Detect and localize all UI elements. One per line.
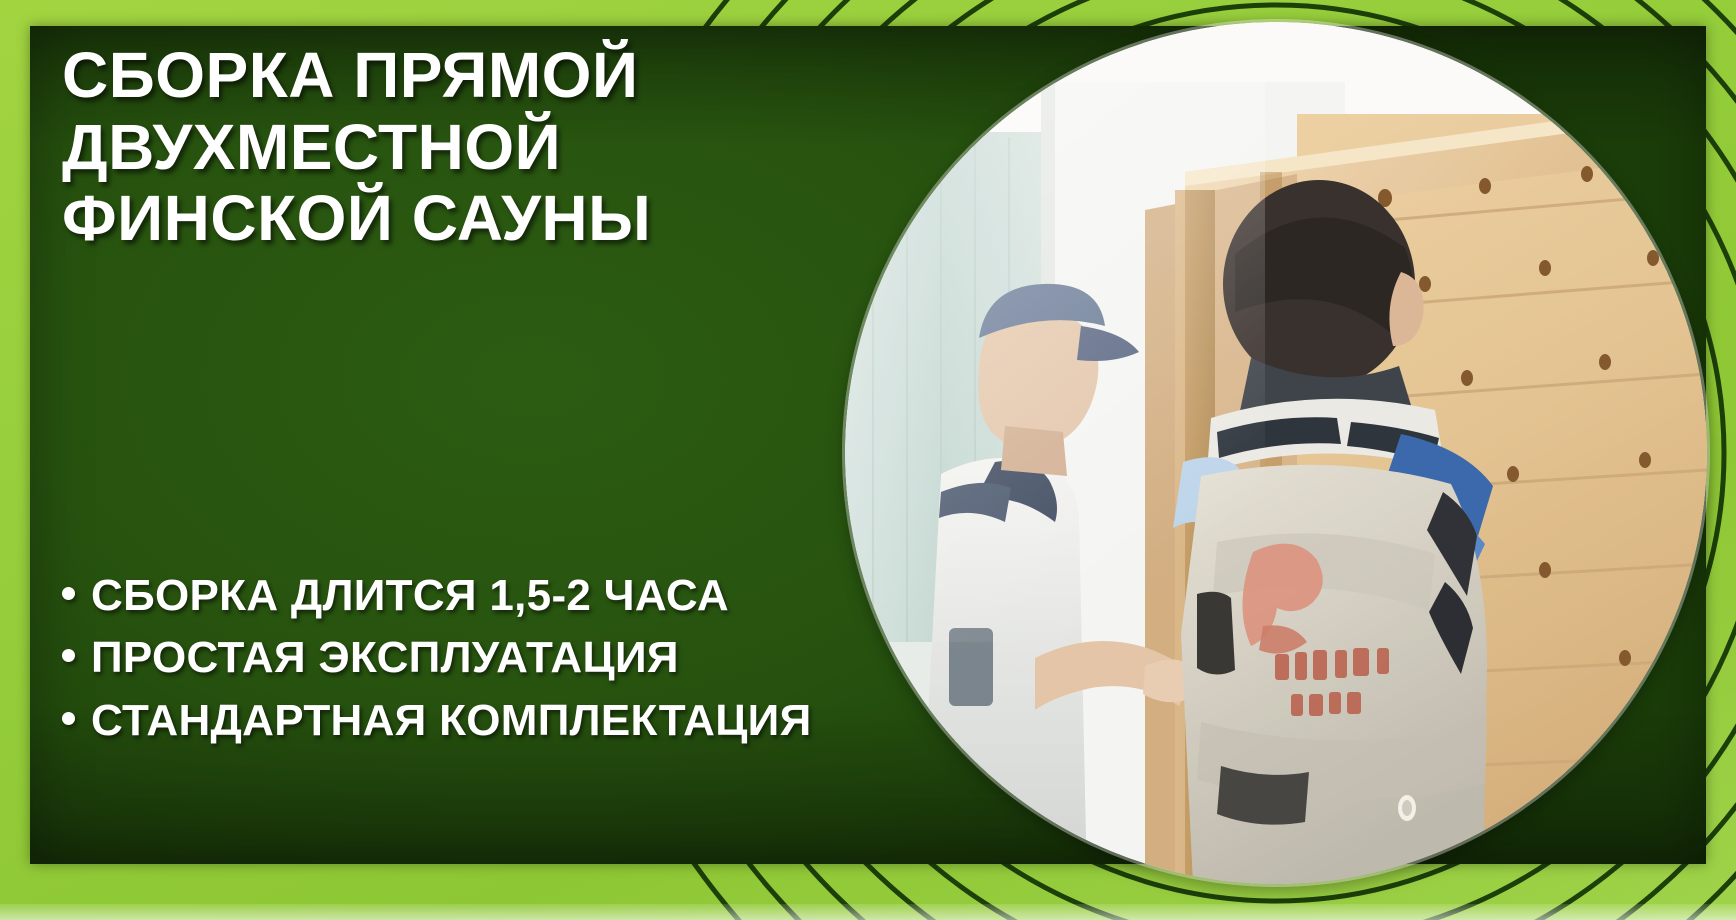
frame-bottom-sheen [0,904,1736,920]
sauna-assembly-photo [845,22,1707,884]
feature-list: СБОРКА ДЛИТСЯ 1,5-2 ЧАСА ПРОСТАЯ ЭКСПЛУА… [62,565,892,752]
bullet-dot-icon [62,587,75,600]
headline-line-3: ФИНСКОЙ САУНЫ [62,183,822,255]
list-item: СБОРКА ДЛИТСЯ 1,5-2 ЧАСА [62,565,892,627]
bullet-dot-icon [62,712,75,725]
list-item-label: СТАНДАРТНАЯ КОМПЛЕКТАЦИЯ [91,690,812,752]
page-title: СБОРКА ПРЯМОЙ ДВУХМЕСТНОЙ ФИНСКОЙ САУНЫ [62,40,822,255]
sauna-promo-banner: СБОРКА ПРЯМОЙ ДВУХМЕСТНОЙ ФИНСКОЙ САУНЫ … [0,0,1736,920]
list-item: ПРОСТАЯ ЭКСПЛУАТАЦИЯ [62,627,892,689]
list-item-label: СБОРКА ДЛИТСЯ 1,5-2 ЧАСА [91,565,729,627]
bullet-dot-icon [62,649,75,662]
list-item: СТАНДАРТНАЯ КОМПЛЕКТАЦИЯ [62,690,892,752]
headline-line-2: ДВУХМЕСТНОЙ [62,112,822,184]
headline-line-1: СБОРКА ПРЯМОЙ [62,40,822,112]
list-item-label: ПРОСТАЯ ЭКСПЛУАТАЦИЯ [91,627,679,689]
